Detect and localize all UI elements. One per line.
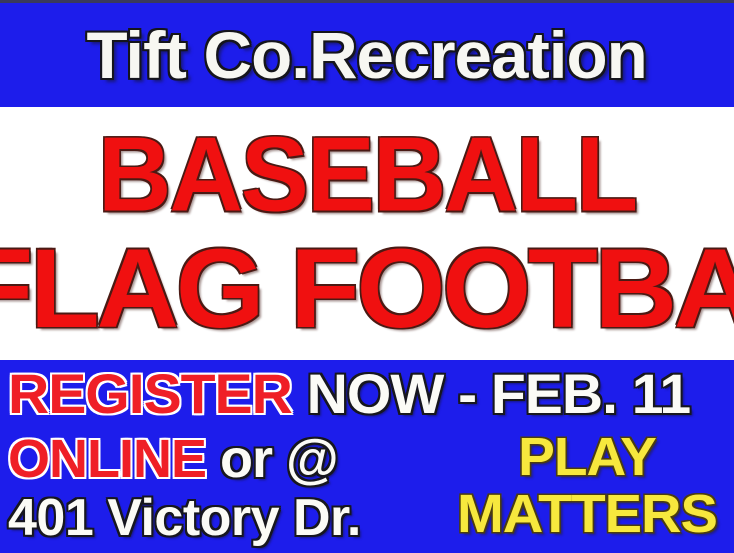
register-word: REGISTER — [8, 362, 292, 425]
slogan-block: PLAY MATTERS — [440, 430, 734, 542]
online-word: ONLINE — [8, 429, 206, 489]
online-line: ONLINE or @ — [8, 432, 438, 486]
organization-title: Tift Co.Recreation — [87, 22, 647, 88]
online-or-at: or @ — [220, 429, 338, 489]
recreation-sign: Tift Co.Recreation BASEBALL FLAG FOOTBAL… — [0, 0, 734, 553]
header-banner: Tift Co.Recreation — [0, 0, 734, 107]
footer-banner: REGISTER NOW - FEB. 11 ONLINE or @ 401 V… — [0, 360, 734, 553]
register-deadline: NOW - FEB. 11 — [307, 362, 690, 425]
sport-baseball-label: BASEBALL — [0, 121, 734, 227]
street-address: 401 Victory Dr. — [8, 492, 438, 544]
address-block: ONLINE or @ 401 Victory Dr. — [8, 432, 438, 544]
slogan-line-matters: MATTERS — [434, 487, 734, 542]
registration-line: REGISTER NOW - FEB. 11 — [8, 366, 734, 422]
sport-flag-football-label: FLAG FOOTBALL — [0, 233, 734, 345]
sports-section: BASEBALL FLAG FOOTBALL — [0, 107, 734, 360]
slogan-line-play: PLAY — [437, 430, 734, 485]
